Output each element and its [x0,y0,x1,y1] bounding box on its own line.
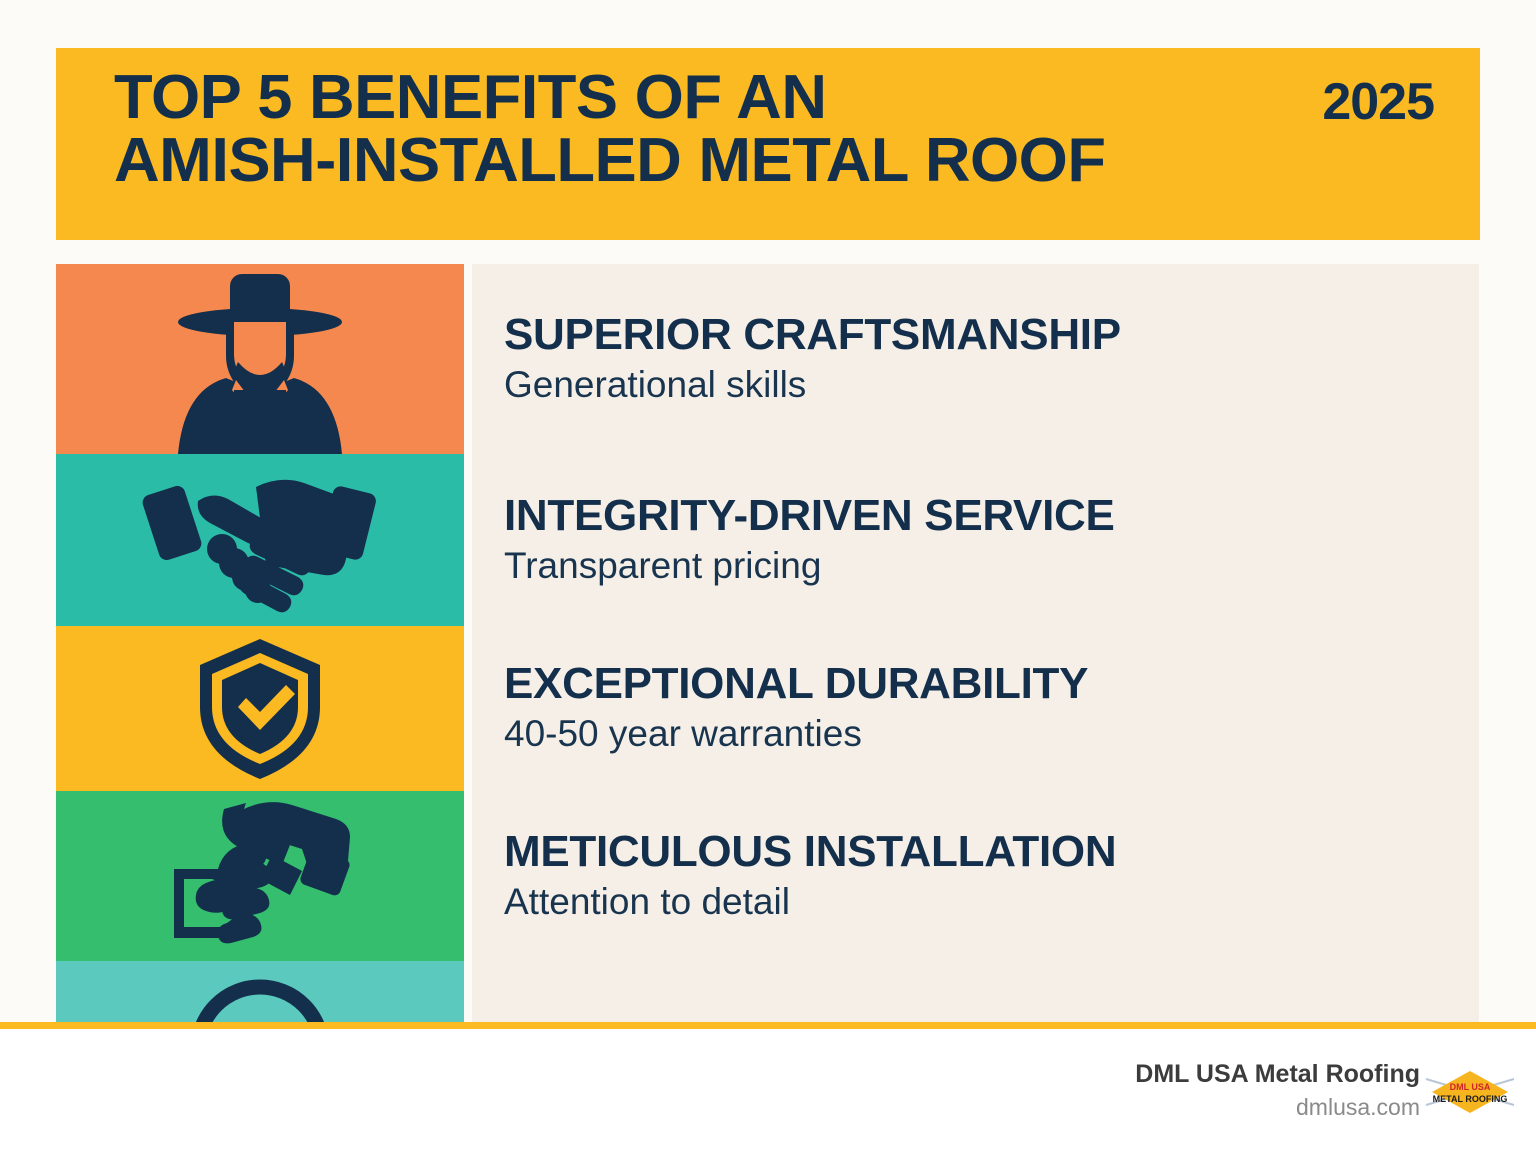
footer-url[interactable]: dmlusa.com [1135,1094,1420,1121]
benefit-text-2: INTEGRITY-DRIVEN SERVICE Transparent pri… [472,454,1479,626]
benefit-swatch-4 [56,791,464,961]
page-title-line2: AMISH-INSTALLED METAL ROOF [114,129,1287,192]
benefit-swatch-5 [56,961,464,1026]
benefit-text-4: METICULOUS INSTALLATION Attention to det… [472,791,1479,961]
benefit-row-5[interactable]: STRESS-FREE PROCESS [0,961,1536,1026]
benefit-text-1: SUPERIOR CRAFTSMANSHIP Generational skil… [472,264,1479,454]
benefit-row-1[interactable]: SUPERIOR CRAFTSMANSHIP Generational skil… [0,264,1536,454]
content-area: TOP 5 BENEFITS OF AN AMISH-INSTALLED MET… [0,0,1536,1026]
year-badge: 2025 [1322,72,1434,132]
benefit-swatch-1 [56,264,464,454]
smiley-face-icon [185,971,335,1026]
benefit-row-4[interactable]: METICULOUS INSTALLATION Attention to det… [0,791,1536,961]
benefit-row-3[interactable]: EXCEPTIONAL DURABILITY 40-50 year warran… [0,626,1536,791]
logo-top-text: DML USA [1450,1082,1491,1092]
logo-bottom-text: METAL ROOFING [1433,1094,1508,1104]
footer: DML USA Metal Roofing dmlusa.com DML USA… [0,1029,1536,1154]
benefit-title-2: INTEGRITY-DRIVEN SERVICE [504,493,1479,539]
handshake-icon [136,465,384,615]
footer-divider [0,1022,1536,1029]
amish-farmer-icon [160,264,360,454]
benefit-swatch-3 [56,626,464,791]
hand-hammer-icon [154,797,366,955]
benefit-subtitle-2: Transparent pricing [504,545,1479,588]
benefit-swatch-2 [56,454,464,626]
infographic-page: TOP 5 BENEFITS OF AN AMISH-INSTALLED MET… [0,0,1536,1154]
benefit-subtitle-3: 40-50 year warranties [504,713,1479,756]
benefit-row-2[interactable]: INTEGRITY-DRIVEN SERVICE Transparent pri… [0,454,1536,626]
page-title: TOP 5 BENEFITS OF AN AMISH-INSTALLED MET… [114,66,1287,192]
benefit-text-3: EXCEPTIONAL DURABILITY 40-50 year warran… [472,626,1479,791]
benefits-list: SUPERIOR CRAFTSMANSHIP Generational skil… [0,264,1536,1026]
dml-usa-logo: DML USA METAL ROOFING [1424,1065,1516,1119]
page-title-line1: TOP 5 BENEFITS OF AN [114,66,1287,129]
benefit-title-3: EXCEPTIONAL DURABILITY [504,661,1479,707]
footer-brand: DML USA Metal Roofing [1135,1059,1420,1089]
benefit-text-5: STRESS-FREE PROCESS [472,961,1479,1026]
benefit-subtitle-4: Attention to detail [504,881,1479,924]
benefit-title-1: SUPERIOR CRAFTSMANSHIP [504,312,1479,358]
benefit-subtitle-1: Generational skills [504,364,1479,407]
header-band: TOP 5 BENEFITS OF AN AMISH-INSTALLED MET… [56,48,1480,240]
shield-check-icon [192,635,328,783]
footer-text-block: DML USA Metal Roofing dmlusa.com [1135,1059,1420,1121]
benefit-title-4: METICULOUS INSTALLATION [504,829,1479,875]
